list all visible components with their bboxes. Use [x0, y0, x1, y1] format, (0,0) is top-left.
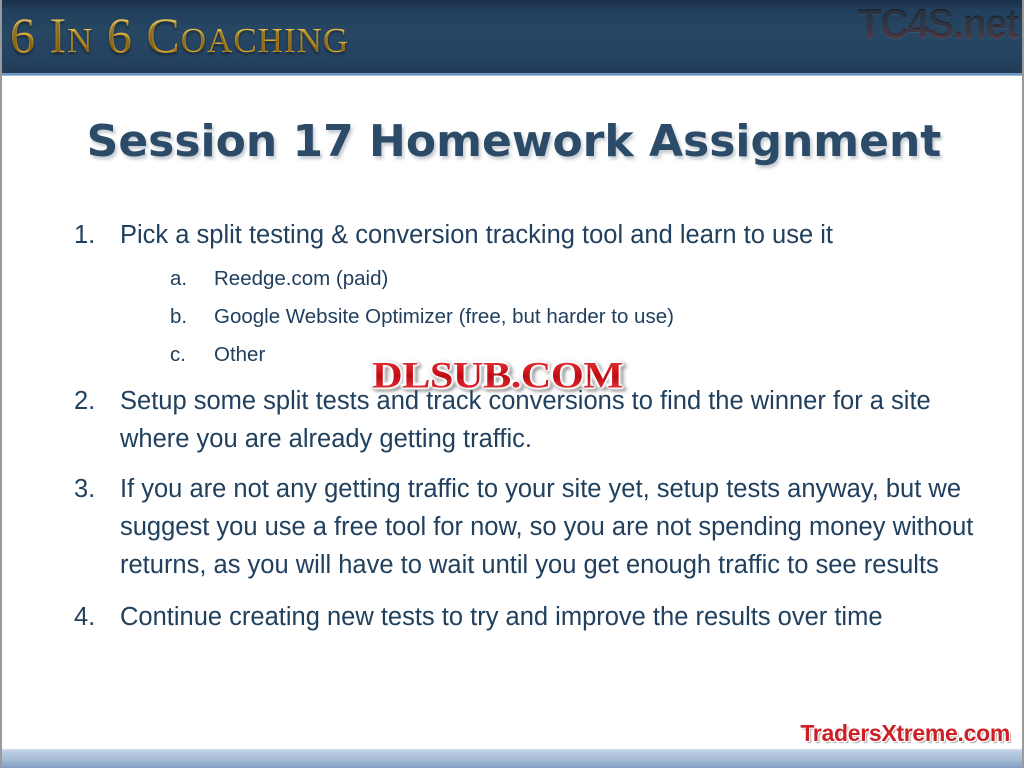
- list-item-text: Setup some split tests and track convers…: [120, 382, 986, 458]
- list-item-marker: 1.: [74, 216, 120, 254]
- header-underline-divider: [2, 73, 1024, 76]
- list-item: 1. Pick a split testing & conversion tra…: [74, 216, 986, 254]
- tc4s-site-watermark: TC4S.net: [858, 0, 1018, 48]
- list-item: 3. If you are not any getting traffic to…: [74, 470, 986, 584]
- list-item-marker: b.: [170, 298, 214, 336]
- list-item-text: If you are not any getting traffic to yo…: [120, 470, 986, 584]
- slide-footer-bar: [2, 749, 1024, 768]
- list-sublist: a. Reedge.com (paid) b. Google Website O…: [74, 260, 986, 374]
- tradersxtreme-footer-watermark: TradersXtreme.com: [800, 720, 1010, 746]
- list-item-text: Continue creating new tests to try and i…: [120, 598, 986, 636]
- list-item: 2. Setup some split tests and track conv…: [74, 382, 986, 458]
- list-item-marker: c.: [170, 336, 214, 374]
- brand-logo-text: 6 In 6 Coaching: [10, 2, 349, 68]
- list-item-text: Reedge.com (paid): [214, 260, 986, 298]
- list-item-marker: 3.: [74, 470, 120, 508]
- list-item-text: Other: [214, 336, 986, 374]
- list-item-marker: 2.: [74, 382, 120, 420]
- list-item-text: Pick a split testing & conversion tracki…: [120, 216, 986, 254]
- page-title: Session 17 Homework Assignment: [2, 116, 1024, 168]
- homework-task-list: 1. Pick a split testing & conversion tra…: [74, 216, 986, 640]
- list-item-marker: 4.: [74, 598, 120, 636]
- list-item: b. Google Website Optimizer (free, but h…: [170, 298, 986, 336]
- list-item-text: Google Website Optimizer (free, but hard…: [214, 298, 986, 336]
- slide-canvas: 6 In 6 Coaching TC4S.net Session 17 Home…: [0, 0, 1024, 768]
- list-item: a. Reedge.com (paid): [170, 260, 986, 298]
- list-item: c. Other: [170, 336, 986, 374]
- list-item: 4. Continue creating new tests to try an…: [74, 598, 986, 636]
- list-item-marker: a.: [170, 260, 214, 298]
- slide-header-bar: 6 In 6 Coaching TC4S.net: [2, 0, 1024, 73]
